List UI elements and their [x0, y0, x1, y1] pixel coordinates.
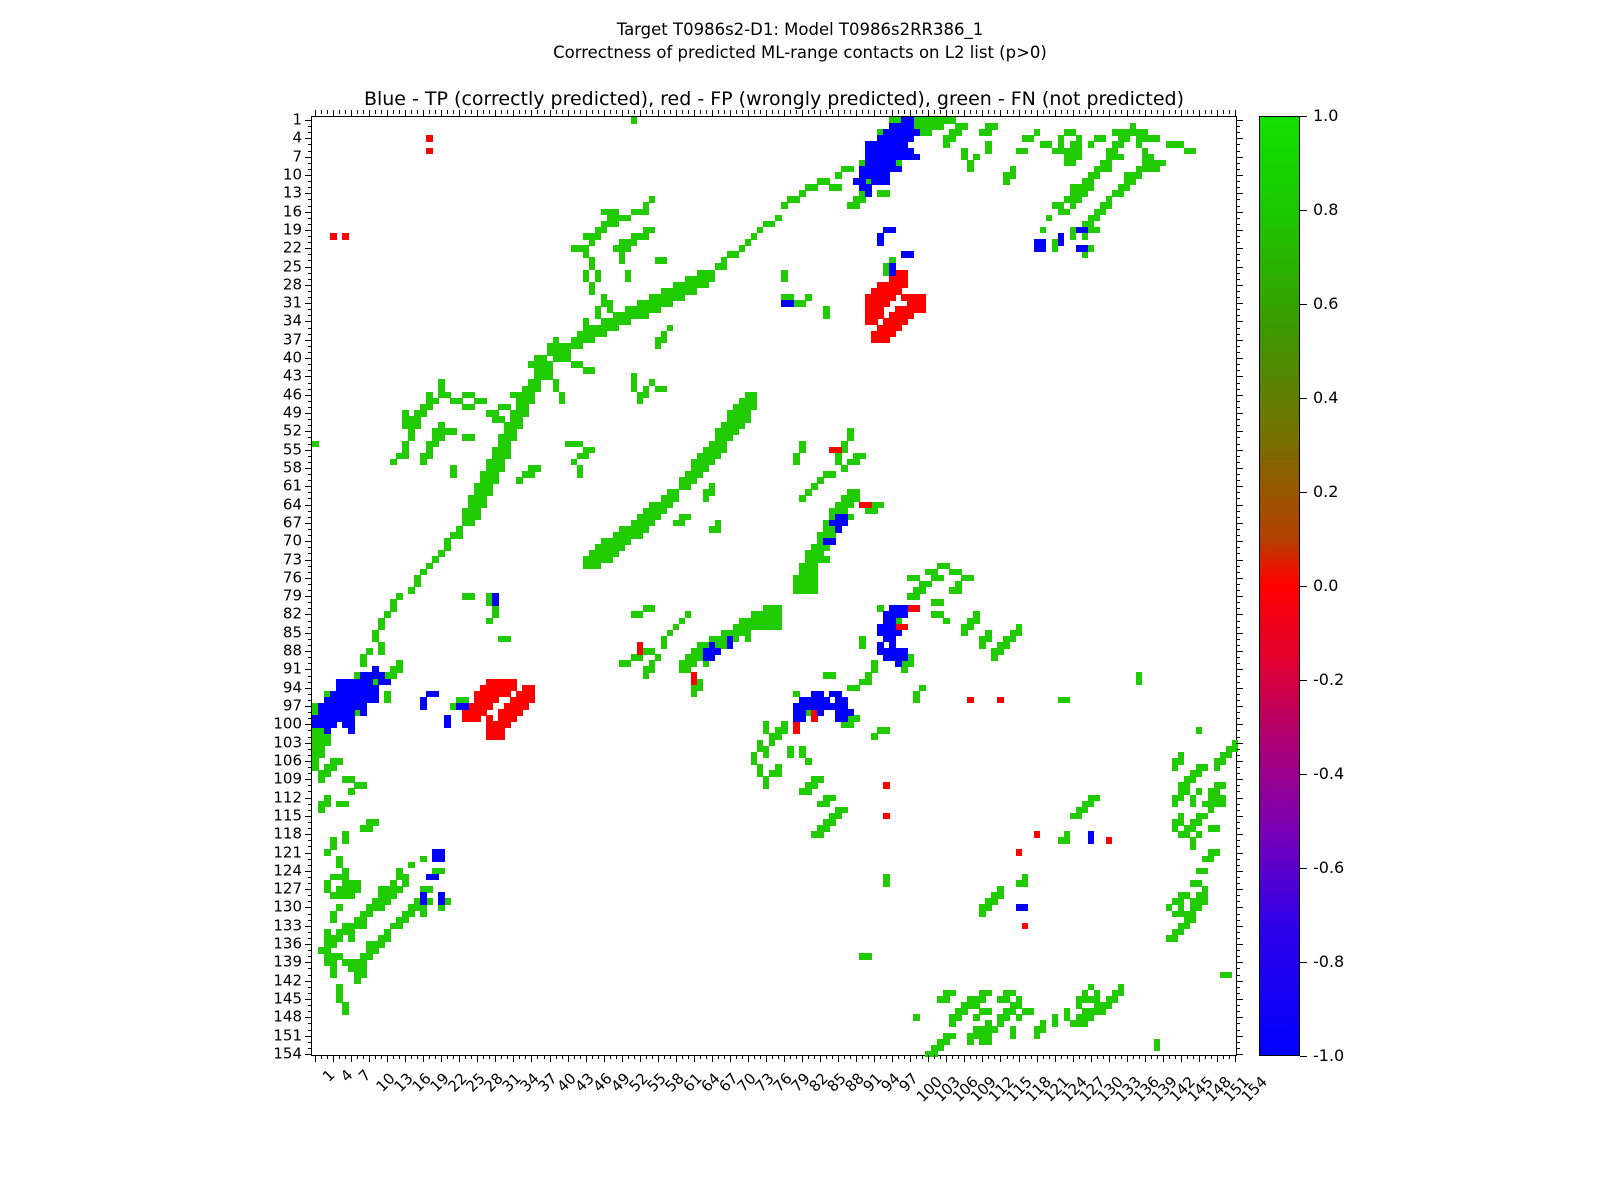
y-axis-label: 136: [273, 937, 302, 952]
contact-cell-fn: [1226, 752, 1233, 759]
contact-cell-fp: [883, 813, 890, 820]
contact-cell-fn: [799, 495, 806, 502]
contact-cell-fn: [1118, 190, 1125, 197]
y-axis-tick-right: [1236, 932, 1240, 933]
contact-cell-fn: [577, 343, 584, 350]
y-axis-tick-major: [305, 907, 312, 908]
x-axis-tick-top: [435, 110, 436, 114]
contact-cell-tp: [877, 648, 884, 655]
contact-cell-tp: [1082, 227, 1089, 234]
contact-cell-fn: [853, 715, 860, 722]
y-axis-tick-right: [1236, 151, 1240, 152]
y-axis-tick-minor: [308, 773, 312, 774]
x-axis-tick-major: [1000, 1055, 1001, 1062]
y-axis-tick-right: [1236, 163, 1240, 164]
y-axis-tick-major: [305, 926, 312, 927]
contact-cell-fn: [1094, 795, 1101, 802]
contact-cell-tp: [432, 691, 439, 698]
contact-cell-fp: [330, 233, 337, 240]
contact-cell-tp: [372, 697, 379, 704]
x-axis-tick-top: [459, 110, 460, 117]
contact-cell-fn: [937, 1045, 944, 1052]
x-axis-tick-top: [399, 110, 400, 114]
contact-cell-fn: [781, 202, 788, 209]
y-axis-tick-major: [305, 743, 312, 744]
y-axis-tick-right: [1236, 871, 1243, 872]
contact-cell-fn: [673, 489, 680, 496]
contact-cell-fn: [949, 135, 956, 142]
contact-cell-fn: [631, 117, 638, 124]
contact-cell-fn: [510, 434, 517, 441]
y-axis-tick-major: [305, 669, 312, 670]
contact-cell-fp: [522, 703, 529, 710]
y-axis-tick-right: [1236, 718, 1240, 719]
contact-cell-fn: [775, 770, 782, 777]
x-axis-tick-major: [1019, 1055, 1020, 1062]
contact-cell-fn: [336, 904, 343, 911]
contact-cell-fn: [667, 300, 674, 307]
y-axis-tick-right: [1236, 383, 1240, 384]
y-axis-tick-right: [1236, 1042, 1240, 1043]
contact-cell-fn: [673, 495, 680, 502]
contact-cell-fn: [390, 892, 397, 899]
y-axis-tick-right: [1236, 511, 1240, 512]
contact-cell-fn: [967, 575, 974, 582]
contact-cell-fn: [991, 123, 998, 130]
y-axis-tick-right: [1236, 358, 1243, 359]
x-axis-tick-top: [1235, 110, 1236, 117]
contact-cell-fn: [414, 416, 421, 423]
y-axis-tick-right: [1236, 712, 1240, 713]
contact-cell-fn: [775, 733, 782, 740]
contact-cell-fn: [1070, 233, 1077, 240]
x-axis-tick-minor: [327, 1055, 328, 1059]
contact-cell-fn: [745, 416, 752, 423]
x-axis-tick-top: [411, 110, 412, 114]
contact-cell-fn: [949, 1020, 956, 1027]
contact-cell-fn: [1208, 807, 1215, 814]
y-axis-tick-major: [305, 267, 312, 268]
y-axis-tick-minor: [308, 206, 312, 207]
y-axis-label: 40: [283, 351, 302, 366]
contact-cell-fn: [625, 318, 632, 325]
y-axis-tick-minor: [308, 975, 312, 976]
contact-cell-fn: [973, 154, 980, 161]
contact-cell-fn: [1003, 642, 1010, 649]
contact-cell-fn: [973, 1014, 980, 1021]
x-axis-tick-top: [862, 110, 863, 114]
y-axis-tick-minor: [308, 383, 312, 384]
contact-cell-tp: [1082, 245, 1089, 252]
x-axis-tick-top: [1013, 110, 1014, 114]
contact-cell-tp: [841, 520, 848, 527]
x-axis-tick-minor: [736, 1055, 737, 1059]
contact-cell-fn: [1076, 196, 1083, 203]
y-axis-label: 19: [283, 222, 302, 237]
colorbar-tick-label: 1.0: [1313, 108, 1338, 124]
y-axis-tick-right: [1236, 1030, 1240, 1031]
contact-cell-fn: [534, 361, 541, 368]
contact-cell-fn: [330, 941, 337, 948]
contact-cell-fp: [793, 727, 800, 734]
x-axis-tick-top: [1145, 110, 1146, 117]
contact-cell-fn: [384, 935, 391, 942]
contact-cell-fn: [643, 233, 650, 240]
contact-cell-fn: [997, 1020, 1004, 1027]
x-axis-tick-top: [658, 110, 659, 117]
y-axis-tick-minor: [308, 224, 312, 225]
contact-cell-fn: [817, 556, 824, 563]
y-axis-tick-minor: [308, 498, 312, 499]
x-axis-tick-top: [1121, 110, 1122, 114]
x-axis-tick-minor: [1097, 1055, 1098, 1059]
y-axis-tick-major: [305, 560, 312, 561]
contact-cell-fn: [1088, 184, 1095, 191]
contact-cell-tp: [715, 648, 722, 655]
y-axis-tick-right: [1236, 285, 1243, 286]
contact-cell-fn: [528, 471, 535, 478]
y-axis-tick-right: [1236, 309, 1240, 310]
x-axis-tick-major: [405, 1055, 406, 1062]
y-axis-tick-right: [1236, 676, 1240, 677]
y-axis-tick-major: [305, 614, 312, 615]
contact-cell-fn: [883, 880, 890, 887]
contact-cell-fn: [1196, 727, 1203, 734]
y-axis-label: 7: [292, 149, 302, 164]
x-axis-tick-minor: [357, 1055, 358, 1059]
contact-cell-fp: [1034, 831, 1041, 838]
y-axis-label: 1: [292, 113, 302, 128]
y-axis-tick-right: [1236, 401, 1240, 402]
x-axis-tick-top: [519, 110, 520, 114]
y-axis-label: 100: [273, 717, 302, 732]
x-axis-tick-top: [429, 110, 430, 114]
contact-cell-fn: [1076, 154, 1083, 161]
x-axis-tick-major: [495, 1055, 496, 1062]
contact-cell-fn: [528, 398, 535, 405]
contact-cell-fp: [1022, 923, 1029, 930]
y-axis-tick-right: [1236, 840, 1240, 841]
contact-cell-fn: [847, 434, 854, 441]
x-axis-tick-major: [1145, 1055, 1146, 1062]
x-axis-tick-major: [892, 1055, 893, 1062]
contact-cell-fn: [829, 819, 836, 826]
x-axis-tick-minor: [796, 1055, 797, 1059]
y-axis-tick-minor: [308, 328, 312, 329]
y-axis-tick-right: [1236, 859, 1240, 860]
y-axis-tick-minor: [308, 1011, 312, 1012]
y-axis-label: 64: [283, 497, 302, 512]
contact-cell-fn: [1202, 764, 1209, 771]
contact-cell-tp: [835, 691, 842, 698]
y-axis-tick-right: [1236, 621, 1240, 622]
contact-cell-tp: [895, 148, 902, 155]
x-axis-tick-top: [880, 110, 881, 114]
contact-cell-fn: [703, 495, 710, 502]
y-axis-label: 70: [283, 534, 302, 549]
x-axis-tick-major: [333, 1055, 334, 1062]
contact-cell-fn: [625, 660, 632, 667]
y-axis-tick-right: [1236, 273, 1240, 274]
x-axis-tick-minor: [922, 1055, 923, 1059]
contact-cell-fn: [378, 624, 385, 631]
contact-cell-tp: [444, 721, 451, 728]
x-axis-tick-top: [736, 110, 737, 114]
x-axis-tick-top: [838, 110, 839, 117]
x-axis-tick-minor: [375, 1055, 376, 1059]
x-axis-tick-top: [772, 110, 773, 114]
contact-cell-fn: [1118, 141, 1125, 148]
y-axis-tick-right: [1236, 877, 1240, 878]
colorbar-gradient: [1259, 116, 1300, 1056]
y-axis-tick-minor: [308, 1048, 312, 1049]
y-axis-tick-right: [1236, 633, 1243, 634]
x-axis-tick-minor: [1187, 1055, 1188, 1059]
y-axis-tick-right: [1236, 553, 1240, 554]
y-axis-label: 106: [273, 753, 302, 768]
colorbar-tick-label: 0.8: [1313, 202, 1338, 218]
x-axis-tick-top: [952, 110, 953, 114]
x-axis-tick-top: [550, 110, 551, 117]
x-axis-tick-top: [1043, 110, 1044, 114]
contact-cell-fn: [1088, 1014, 1095, 1021]
x-axis-tick-minor: [880, 1055, 881, 1059]
x-axis-tick-minor: [1151, 1055, 1152, 1059]
y-axis-tick-minor: [308, 291, 312, 292]
contact-cell-fn: [613, 221, 620, 228]
y-axis-tick-right: [1236, 144, 1240, 145]
y-axis-tick-right: [1236, 425, 1240, 426]
y-axis-tick-minor: [308, 334, 312, 335]
contact-cell-fn: [835, 184, 842, 191]
y-axis-tick-right: [1236, 181, 1240, 182]
contact-cell-fn: [414, 581, 421, 588]
contact-cell-fn: [480, 398, 487, 405]
x-axis-tick-minor: [399, 1055, 400, 1059]
y-axis-tick-right: [1236, 352, 1240, 353]
x-axis-tick-top: [868, 110, 869, 114]
x-axis-tick-top: [892, 110, 893, 117]
contact-cell-fn: [420, 569, 427, 576]
contact-cell-fn: [378, 904, 385, 911]
contact-cell-fn: [372, 819, 379, 826]
contact-map-plot[interactable]: 1471013161922252831343740434649525558616…: [311, 116, 1237, 1056]
contact-cell-fn: [721, 447, 728, 454]
x-axis-tick-major: [586, 1055, 587, 1062]
y-axis-label: 151: [273, 1028, 302, 1043]
contact-cell-fn: [655, 306, 662, 313]
contact-cell-fn: [420, 410, 427, 417]
contact-cell-fn: [504, 636, 511, 643]
x-axis-tick-top: [1031, 110, 1032, 114]
contact-cell-fn: [1016, 1014, 1023, 1021]
y-axis-tick-minor: [308, 401, 312, 402]
contact-cell-fn: [384, 898, 391, 905]
y-axis-tick-right: [1236, 450, 1243, 451]
contact-cell-fp: [492, 697, 499, 704]
colorbar-tick: [1300, 774, 1307, 775]
contact-cell-tp: [895, 630, 902, 637]
y-axis-tick-minor: [308, 639, 312, 640]
contact-cell-fp: [901, 624, 908, 631]
y-axis-tick-major: [305, 450, 312, 451]
x-axis-tick-major: [423, 1055, 424, 1062]
contact-cell-fn: [498, 465, 505, 472]
x-axis-tick-minor: [1031, 1055, 1032, 1059]
y-axis-tick-major: [305, 651, 312, 652]
x-axis-tick-top: [766, 110, 767, 117]
y-axis-tick-minor: [308, 389, 312, 390]
contact-cell-fn: [354, 965, 361, 972]
x-axis-tick-top: [537, 110, 538, 114]
x-axis-tick-top: [1061, 110, 1062, 114]
y-axis-tick-right: [1236, 334, 1240, 335]
x-axis-tick-top: [1055, 110, 1056, 117]
contact-cell-fn: [955, 587, 962, 594]
contact-cell-fn: [745, 239, 752, 246]
y-axis-label: 10: [283, 167, 302, 182]
x-axis-tick-top: [742, 110, 743, 114]
x-axis-tick-top: [814, 110, 815, 114]
x-axis-tick-major: [387, 1055, 388, 1062]
contact-cell-tp: [895, 154, 902, 161]
contact-cell-fn: [1178, 929, 1185, 936]
contact-cell-fn: [450, 471, 457, 478]
contact-cell-fn: [625, 538, 632, 545]
x-axis-tick-minor: [646, 1055, 647, 1059]
x-axis-tick-top: [610, 110, 611, 114]
x-axis-tick-minor: [321, 1055, 322, 1059]
x-axis-tick-top: [628, 110, 629, 114]
contact-cell-fn: [601, 331, 608, 338]
chart-title: Target T0986s2-D1: Model T0986s2RR386_1 …: [0, 18, 1600, 64]
y-axis-tick-minor: [308, 511, 312, 512]
contact-cell-fn: [883, 190, 890, 197]
y-axis-tick-right: [1236, 645, 1240, 646]
contact-cell-fn: [384, 611, 391, 618]
contact-cell-fn: [534, 465, 541, 472]
contact-cell-fn: [817, 831, 824, 838]
x-axis-tick-minor: [670, 1055, 671, 1059]
contact-cell-fn: [727, 434, 734, 441]
y-axis-label: 139: [273, 955, 302, 970]
contact-cell-tp: [907, 251, 914, 258]
contact-cell-fn: [979, 642, 986, 649]
x-axis-tick-top: [477, 110, 478, 117]
x-axis-tick-top: [592, 110, 593, 114]
x-axis-tick-major: [640, 1055, 641, 1062]
x-axis-tick-top: [856, 110, 857, 117]
y-axis-tick-right: [1236, 608, 1240, 609]
contact-cell-tp: [901, 141, 908, 148]
y-axis-label: 28: [283, 277, 302, 292]
contact-cell-fn: [1202, 868, 1209, 875]
x-axis-tick-top: [1193, 110, 1194, 114]
y-axis-label: 148: [273, 1010, 302, 1025]
contact-cell-fn: [1094, 1008, 1101, 1015]
y-axis-tick-right: [1236, 590, 1240, 591]
y-axis-tick-minor: [308, 767, 312, 768]
contact-cell-fn: [829, 795, 836, 802]
x-axis-tick-top: [616, 110, 617, 114]
contact-cell-tp: [913, 129, 920, 136]
contact-cell-fn: [1094, 172, 1101, 179]
x-axis-tick-top: [976, 110, 977, 114]
x-axis-tick-top: [507, 110, 508, 114]
colorbar-tick: [1300, 492, 1307, 493]
x-axis-tick-minor: [598, 1055, 599, 1059]
x-axis-tick-top: [1187, 110, 1188, 114]
y-axis-tick-minor: [308, 315, 312, 316]
contact-cell-fp: [426, 148, 433, 155]
colorbar-tick: [1300, 210, 1307, 211]
contact-cell-fn: [1172, 825, 1179, 832]
x-axis-tick-minor: [1193, 1055, 1194, 1059]
contact-cell-fn: [342, 801, 349, 808]
contact-cell-fn: [366, 953, 373, 960]
title-line-2: Correctness of predicted ML-range contac…: [0, 41, 1600, 64]
x-axis-tick-top: [363, 110, 364, 114]
contact-cell-fn: [1208, 856, 1215, 863]
y-axis-tick-minor: [308, 883, 312, 884]
y-axis-tick-right: [1236, 975, 1240, 976]
contact-cell-fn: [1190, 776, 1197, 783]
contact-cell-fn: [871, 508, 878, 515]
contact-cell-fn: [691, 691, 698, 698]
contact-cell-fn: [324, 770, 331, 777]
y-axis-tick-right: [1236, 883, 1240, 884]
contact-cell-fp: [895, 288, 902, 295]
y-axis-tick-right: [1236, 248, 1243, 249]
y-axis-tick-minor: [308, 279, 312, 280]
contact-cell-fn: [655, 654, 662, 661]
contact-cell-fp: [901, 282, 908, 289]
y-axis-tick-minor: [308, 517, 312, 518]
y-axis-tick-right: [1236, 791, 1240, 792]
x-axis-tick-minor: [537, 1055, 538, 1059]
contact-cell-fn: [1154, 166, 1161, 173]
y-axis-tick-right: [1236, 492, 1240, 493]
x-axis-tick-minor: [850, 1055, 851, 1059]
contact-cell-tp: [709, 654, 716, 661]
y-axis-tick-right: [1236, 230, 1243, 231]
x-axis-tick-minor: [417, 1055, 418, 1059]
contact-cell-fn: [649, 520, 656, 527]
y-axis-label: 154: [273, 1046, 302, 1061]
contact-cell-fp: [865, 502, 872, 509]
contact-cell-fp: [835, 447, 842, 454]
contact-cell-fn: [805, 489, 812, 496]
x-axis-tick-minor: [363, 1055, 364, 1059]
x-axis-tick-minor: [447, 1055, 448, 1059]
contact-cell-fn: [577, 471, 584, 478]
contact-cell-fn: [721, 263, 728, 270]
x-axis-tick-minor: [862, 1055, 863, 1059]
y-axis-tick-minor: [308, 364, 312, 365]
y-axis-tick-right: [1236, 431, 1243, 432]
x-axis-tick-top: [544, 110, 545, 114]
y-axis-tick-right: [1236, 260, 1240, 261]
y-axis-tick-major: [305, 596, 312, 597]
x-axis-tick-major: [315, 1055, 316, 1062]
y-axis-tick-major: [305, 138, 312, 139]
y-axis-tick-right: [1236, 505, 1243, 506]
contact-cell-fn: [390, 459, 397, 466]
y-axis-tick-right: [1236, 486, 1243, 487]
x-axis-tick-minor: [519, 1055, 520, 1059]
x-axis-tick-top: [1067, 110, 1068, 114]
y-axis-label: 73: [283, 552, 302, 567]
